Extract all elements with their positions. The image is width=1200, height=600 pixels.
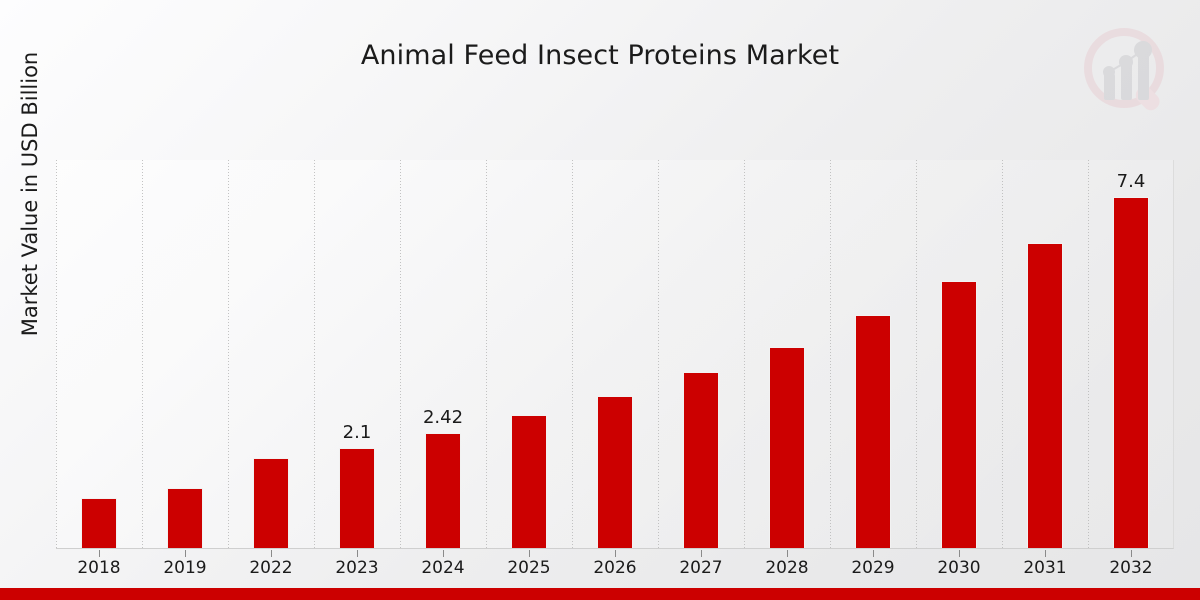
bar-cell bbox=[228, 159, 314, 548]
chart-figure: Animal Feed Insect Proteins Market Marke… bbox=[0, 0, 1200, 600]
x-tick-mark bbox=[701, 550, 702, 557]
bar-cell bbox=[142, 159, 228, 548]
magnifier-bar-chart-logo bbox=[1078, 22, 1182, 126]
x-tick-mark bbox=[99, 550, 100, 557]
bar-2028[interactable] bbox=[769, 347, 805, 548]
bar-cell: 2.42 bbox=[400, 159, 486, 548]
x-tick-label-2022: 2022 bbox=[231, 558, 311, 578]
x-tick-mark bbox=[787, 550, 788, 557]
bar-2024[interactable] bbox=[425, 433, 461, 548]
x-tick-label-2026: 2026 bbox=[575, 558, 655, 578]
x-tick-mark bbox=[529, 550, 530, 557]
x-tick-label-2025: 2025 bbox=[489, 558, 569, 578]
x-tick-label-2018: 2018 bbox=[59, 558, 139, 578]
x-tick-mark bbox=[271, 550, 272, 557]
x-tick-label-2032: 2032 bbox=[1091, 558, 1171, 578]
bar-value-label-2024: 2.42 bbox=[423, 407, 463, 428]
bar-cell bbox=[572, 159, 658, 548]
bottom-accent-band bbox=[0, 588, 1200, 600]
bar-cell bbox=[916, 159, 1002, 548]
bar-cell: 2.1 bbox=[314, 159, 400, 548]
bar-cell bbox=[486, 159, 572, 548]
bar-cell bbox=[830, 159, 916, 548]
bar-2029[interactable] bbox=[855, 315, 891, 548]
bar-value-label-2032: 7.4 bbox=[1117, 171, 1146, 192]
x-tick-mark bbox=[357, 550, 358, 557]
y-axis-label: Market Value in USD Billion bbox=[16, 4, 44, 384]
bar-2023[interactable] bbox=[339, 448, 375, 548]
x-tick-label-2030: 2030 bbox=[919, 558, 999, 578]
x-tick-mark bbox=[185, 550, 186, 557]
plot-area: 2.12.427.4 bbox=[56, 160, 1174, 549]
bar-2032[interactable] bbox=[1113, 197, 1149, 548]
bar-cell: 7.4 bbox=[1088, 159, 1174, 548]
bar-cell bbox=[1002, 159, 1088, 548]
x-tick-label-2019: 2019 bbox=[145, 558, 225, 578]
x-tick-label-2028: 2028 bbox=[747, 558, 827, 578]
x-tick-label-2024: 2024 bbox=[403, 558, 483, 578]
x-tick-mark bbox=[873, 550, 874, 557]
x-tick-label-2029: 2029 bbox=[833, 558, 913, 578]
bar-2018[interactable] bbox=[81, 498, 117, 548]
bar-2030[interactable] bbox=[941, 281, 977, 548]
x-tick-label-2027: 2027 bbox=[661, 558, 741, 578]
bar-cell bbox=[744, 159, 830, 548]
bar-cell bbox=[56, 159, 142, 548]
x-tick-mark bbox=[615, 550, 616, 557]
page-title: Animal Feed Insect Proteins Market bbox=[0, 40, 1200, 71]
x-tick-label-2031: 2031 bbox=[1005, 558, 1085, 578]
x-tick-label-2023: 2023 bbox=[317, 558, 397, 578]
bar-2019[interactable] bbox=[167, 488, 203, 548]
bar-2025[interactable] bbox=[511, 415, 547, 548]
x-tick-mark bbox=[443, 550, 444, 557]
bar-2026[interactable] bbox=[597, 396, 633, 548]
bar-2031[interactable] bbox=[1027, 243, 1063, 549]
bar-value-label-2023: 2.1 bbox=[343, 422, 372, 443]
x-tick-mark bbox=[959, 550, 960, 557]
bar-2027[interactable] bbox=[683, 372, 719, 548]
x-tick-mark bbox=[1131, 550, 1132, 557]
bar-2022[interactable] bbox=[253, 458, 289, 548]
bar-cell bbox=[658, 159, 744, 548]
x-tick-mark bbox=[1045, 550, 1046, 557]
